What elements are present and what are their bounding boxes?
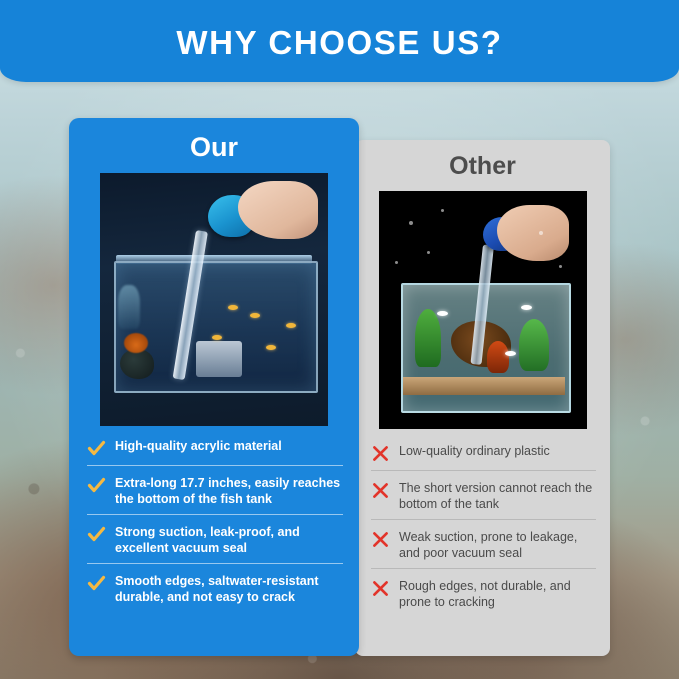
list-item-label: Smooth edges, saltwater-resistant durabl… [115, 573, 343, 605]
list-item: Rough edges, not durable, and prone to c… [371, 578, 596, 617]
list-item: Extra-long 17.7 inches, easily reaches t… [87, 475, 343, 515]
our-plant [118, 285, 140, 329]
our-rock [120, 349, 154, 379]
our-fish [266, 345, 276, 350]
other-fish [521, 305, 532, 310]
other-gravel-bed [403, 377, 565, 395]
list-item: Smooth edges, saltwater-resistant durabl… [87, 573, 343, 612]
bubble [441, 209, 444, 212]
list-item: The short version cannot reach the botto… [371, 480, 596, 520]
bubble [559, 265, 562, 268]
our-fish [212, 335, 222, 340]
header-banner: WHY CHOOSE US? [0, 0, 679, 82]
bubble [409, 221, 413, 225]
other-plant-right [519, 319, 549, 371]
check-icon [87, 525, 106, 544]
comparison-infographic: WHY CHOOSE US? Other [0, 0, 679, 679]
list-item: High-quality acrylic material [87, 438, 343, 466]
bubble [539, 231, 543, 235]
panel-other: Other [355, 140, 610, 656]
panel-other-photo [379, 191, 587, 429]
panel-our-title: Our [69, 132, 359, 163]
panel-our-photo [100, 173, 328, 426]
check-icon [87, 476, 106, 495]
other-fish [437, 311, 448, 316]
cross-icon [371, 481, 390, 500]
our-fish [286, 323, 296, 328]
list-item-label: High-quality acrylic material [115, 438, 282, 454]
bubble [427, 251, 430, 254]
other-plant-left [415, 309, 441, 367]
our-fish [250, 313, 260, 318]
list-item-label: Low-quality ordinary plastic [399, 443, 550, 459]
our-coral [124, 333, 148, 353]
list-item-label: Extra-long 17.7 inches, easily reaches t… [115, 475, 343, 507]
check-icon [87, 439, 106, 458]
panel-our: Our High-quality ac [69, 118, 359, 656]
list-item: Weak suction, prone to leakage, and poor… [371, 529, 596, 569]
cross-icon [371, 444, 390, 463]
other-fish [505, 351, 516, 356]
cross-icon [371, 579, 390, 598]
other-feature-list: Low-quality ordinary plastic The short v… [355, 443, 610, 617]
cross-icon [371, 530, 390, 549]
our-feature-list: High-quality acrylic material Extra-long… [69, 438, 359, 612]
list-item-label: Rough edges, not durable, and prone to c… [399, 578, 596, 610]
list-item-label: The short version cannot reach the botto… [399, 480, 596, 512]
list-item-label: Strong suction, leak-proof, and excellen… [115, 524, 343, 556]
list-item: Strong suction, leak-proof, and excellen… [87, 524, 343, 564]
check-icon [87, 574, 106, 593]
our-fish [228, 305, 238, 310]
other-hand [497, 205, 569, 261]
bubble [395, 261, 398, 264]
list-item-label: Weak suction, prone to leakage, and poor… [399, 529, 596, 561]
page-title: WHY CHOOSE US? [176, 20, 502, 62]
panel-other-title: Other [355, 152, 610, 181]
other-plant-orange [487, 341, 509, 373]
our-stone [196, 341, 242, 377]
list-item: Low-quality ordinary plastic [371, 443, 596, 471]
